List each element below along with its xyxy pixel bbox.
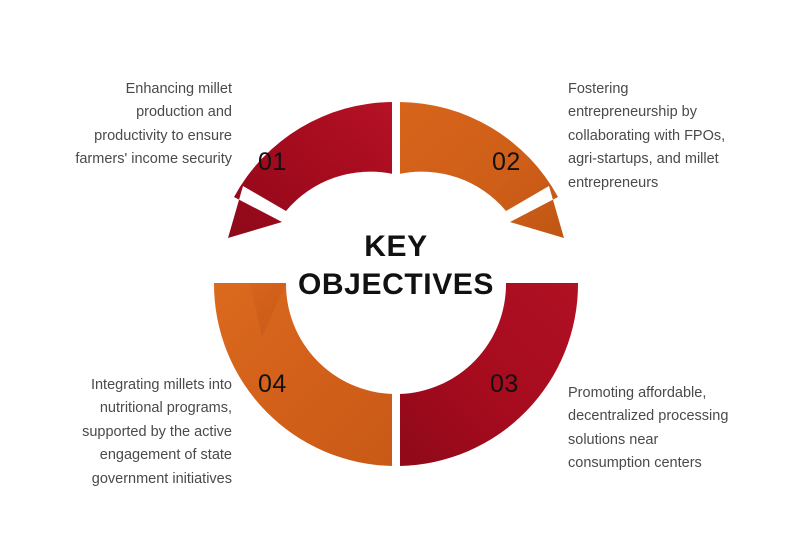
segment-description-01: Enhancing millet production and producti… [32, 78, 232, 172]
segment-number-04: 04 [258, 372, 287, 397]
segment-description-03: Promoting affordable, decentralized proc… [568, 382, 780, 476]
diagram-canvas: 01 02 03 04 KEY OBJECTIVES Enhancing mil… [0, 0, 790, 560]
segment-number-01: 01 [258, 150, 287, 175]
center-title: KEY OBJECTIVES [280, 228, 512, 305]
gap-right [504, 274, 582, 283]
center-title-line-1: KEY [280, 228, 512, 266]
segment-number-03: 03 [490, 372, 519, 397]
segment-description-02: Fostering entrepreneurship by collaborat… [568, 78, 780, 195]
segment-arc-01 [228, 102, 393, 238]
segment-arc-03 [399, 283, 578, 466]
segment-arc-04 [214, 283, 393, 466]
gap-top [392, 96, 400, 180]
segment-number-02: 02 [492, 150, 521, 175]
gap-bottom [392, 390, 400, 472]
center-title-line-2: OBJECTIVES [280, 266, 512, 304]
segment-arc-02 [399, 102, 564, 238]
segment-description-04: Integrating millets into nutritional pro… [18, 374, 232, 491]
gap-left [212, 274, 290, 283]
